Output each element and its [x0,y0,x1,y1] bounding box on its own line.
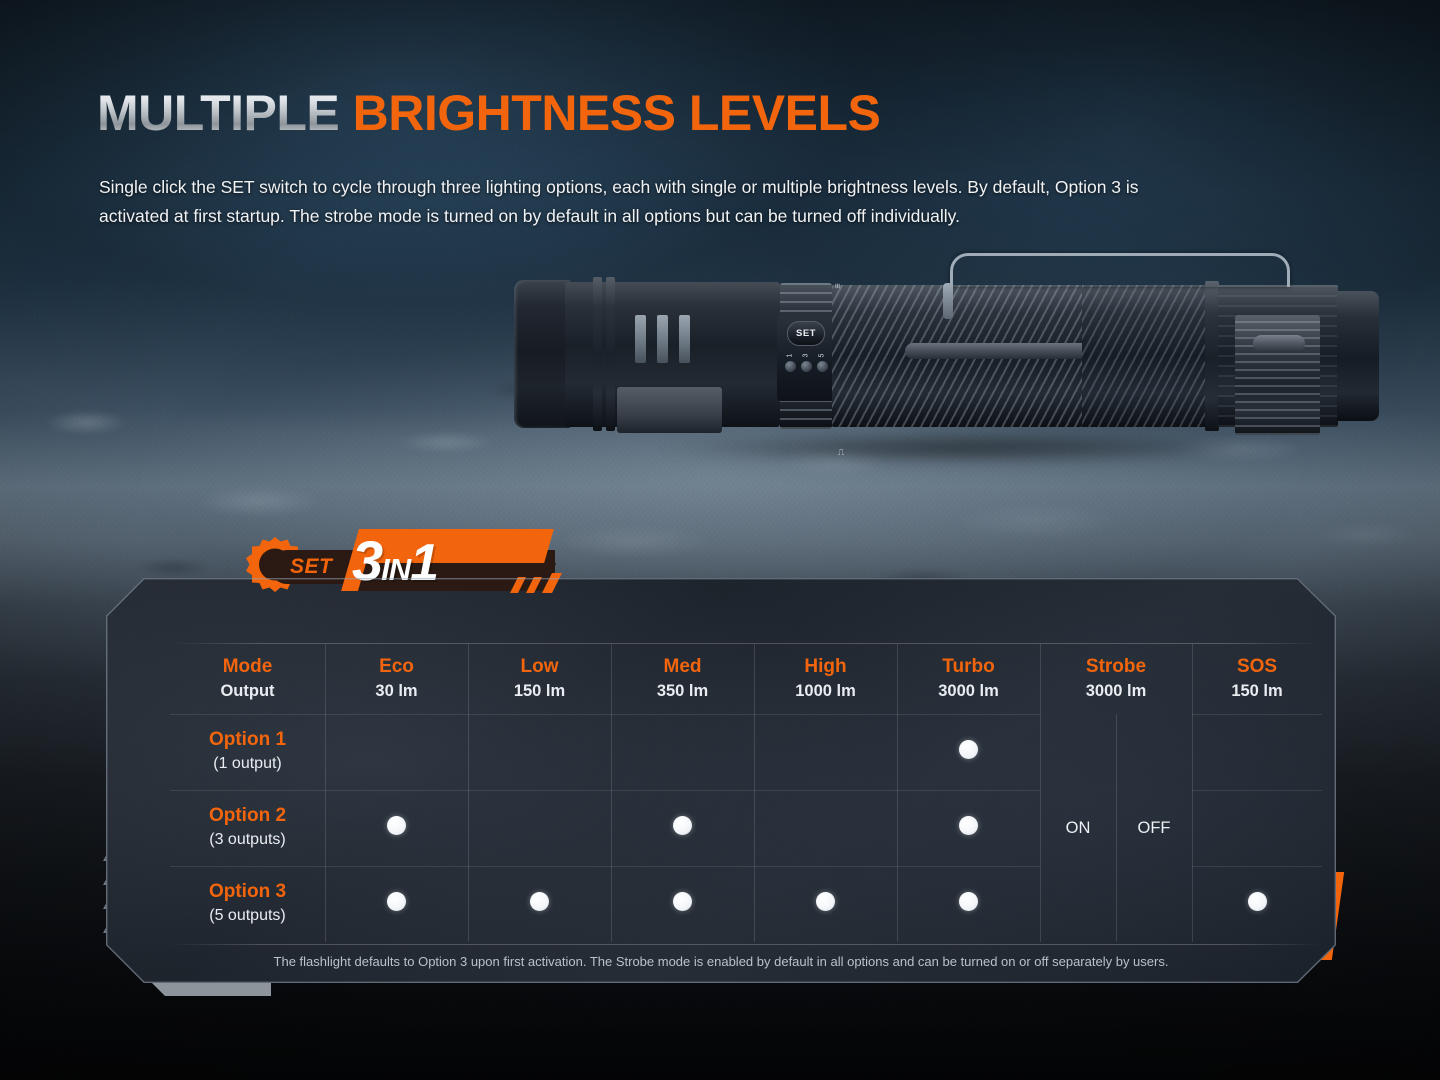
flashlight-head-ring-1 [593,277,602,431]
cell-strobe-off[interactable]: OFF [1116,714,1192,942]
dot-indicator [816,892,835,911]
cell-option2-eco [325,790,468,866]
header-cell-low: Low 150 lm [468,644,611,714]
dot-indicator [959,816,978,835]
dot-indicator [959,892,978,911]
dot-indicator [959,740,978,759]
strobe-on-label: ON [1066,819,1091,837]
header-cell-mode: Mode Output [170,644,325,714]
cell-option1-eco [325,714,468,790]
header-mode-name: Mode [170,655,325,679]
header-strobe-name: Strobe [1040,655,1192,679]
badge-speed-lines-icon [506,571,576,593]
cell-strobe-on[interactable]: ON [1040,714,1116,942]
header-turbo-name: Turbo [897,655,1040,679]
cell-option2-turbo [897,790,1040,866]
header-sos-name: SOS [1192,655,1322,679]
badge-number-3: 3 [352,529,381,592]
table-row[interactable]: Option 1 (1 output) ON OFF [170,714,1322,790]
cell-option1-turbo [897,714,1040,790]
cell-option1-med [611,714,754,790]
dot-indicator [387,816,406,835]
dot-indicator [673,892,692,911]
brightness-mode-table: Mode Output Eco 30 lm Low 150 lm Med 350… [170,644,1322,942]
flashlight-led-5 [817,361,828,372]
option-3-sub: (5 outputs) [170,904,325,928]
option-3-label: Option 3 [170,880,325,905]
header-med-value: 350 lm [611,679,754,704]
dot-indicator [1248,892,1267,911]
flashlight-tail-cap [1337,291,1379,421]
cell-option2-sos [1192,790,1322,866]
cell-option3-high [754,866,897,942]
three-in-one-badge: SET 3IN1 [244,527,584,603]
row-label-option-2: Option 2 (3 outputs) [170,790,325,866]
header-mode-value: Output [170,679,325,704]
flashlight-vent-2 [657,315,668,363]
header-turbo-value: 3000 lm [897,679,1040,704]
cell-option3-turbo [897,866,1040,942]
intro-paragraph: Single click the SET switch to cycle thr… [99,173,1169,230]
page-title-part2: BRIGHTNESS LEVELS [353,85,881,141]
flashlight-logo-mark: ≡ [833,283,843,288]
table-footnote: The flashlight defaults to Option 3 upon… [106,954,1336,969]
page-root: MULTIPLE BRIGHTNESS LEVELS Single click … [0,0,1440,1080]
option-1-sub: (1 output) [170,752,325,776]
flashlight-led-group-1: 1 [785,351,796,372]
flashlight-pocket-clip [950,253,1290,287]
flashlight-led-3 [801,361,812,372]
header-eco-name: Eco [325,655,468,679]
flashlight-vent-3 [679,315,690,363]
flashlight-clip-anchor [943,283,953,319]
cell-option3-med [611,866,754,942]
flashlight-tail-button[interactable] [1253,335,1305,352]
badge-set-label: SET [290,555,332,579]
cell-option3-eco [325,866,468,942]
product-image-flashlight: SET 1 3 5 ≡ ⎍ [505,255,1415,485]
dot-indicator [530,892,549,911]
header-cell-sos: SOS 150 lm [1192,644,1322,714]
header-cell-med: Med 350 lm [611,644,754,714]
badge-word-in: IN [381,552,410,587]
flashlight-tail-switch-section [1235,315,1320,435]
option-2-sub: (3 outputs) [170,828,325,852]
flashlight-led-group-3: 3 [801,351,812,372]
flashlight-led-1 [785,361,796,372]
row-label-option-3: Option 3 (5 outputs) [170,866,325,942]
cell-option2-med [611,790,754,866]
dot-indicator [673,816,692,835]
page-title-part1: MULTIPLE [97,85,339,141]
cell-option1-high [754,714,897,790]
header-low-name: Low [468,655,611,679]
page-title: MULTIPLE BRIGHTNESS LEVELS [97,88,880,138]
header-cell-eco: Eco 30 lm [325,644,468,714]
cell-option1-low [468,714,611,790]
flashlight-usb-mark: ⎍ [838,447,844,458]
cell-option3-sos [1192,866,1322,942]
option-2-label: Option 2 [170,804,325,829]
flashlight-led-label-3: 3 [802,354,811,358]
header-high-value: 1000 lm [754,679,897,704]
flashlight-head-ring-2 [606,277,615,431]
cell-option1-sos [1192,714,1322,790]
option-1-label: Option 1 [170,728,325,753]
header-sos-value: 150 lm [1192,679,1322,704]
flashlight-head-plate [617,387,722,433]
table-bottom-rule [170,944,1322,945]
strobe-off-label: OFF [1138,819,1171,837]
header-cell-high: High 1000 lm [754,644,897,714]
flashlight-led-label-5: 5 [818,354,827,358]
dot-indicator [387,892,406,911]
flashlight-indicator-leds: 1 3 5 [785,351,829,372]
header-low-value: 150 lm [468,679,611,704]
flashlight-body-tube-rear [1082,285,1212,427]
badge-number-1: 1 [410,534,437,592]
cell-option3-low [468,866,611,942]
flashlight-tail-ring [1205,281,1219,431]
cell-option2-high [754,790,897,866]
row-label-option-1: Option 1 (1 output) [170,714,325,790]
cell-option2-low [468,790,611,866]
flashlight-led-label-1: 1 [786,354,795,358]
flashlight-set-button[interactable]: SET [787,321,825,346]
flashlight-vent-1 [635,315,646,363]
flashlight-led-group-5: 5 [817,351,828,372]
table-header-row: Mode Output Eco 30 lm Low 150 lm Med 350… [170,644,1322,714]
header-strobe-value: 3000 lm [1040,679,1192,704]
badge-three-in-one-text: 3IN1 [352,533,437,589]
header-eco-value: 30 lm [325,679,468,704]
header-cell-strobe: Strobe 3000 lm [1040,644,1192,714]
header-med-name: Med [611,655,754,679]
header-cell-turbo: Turbo 3000 lm [897,644,1040,714]
flashlight-bezel [514,280,572,428]
header-high-name: High [754,655,897,679]
